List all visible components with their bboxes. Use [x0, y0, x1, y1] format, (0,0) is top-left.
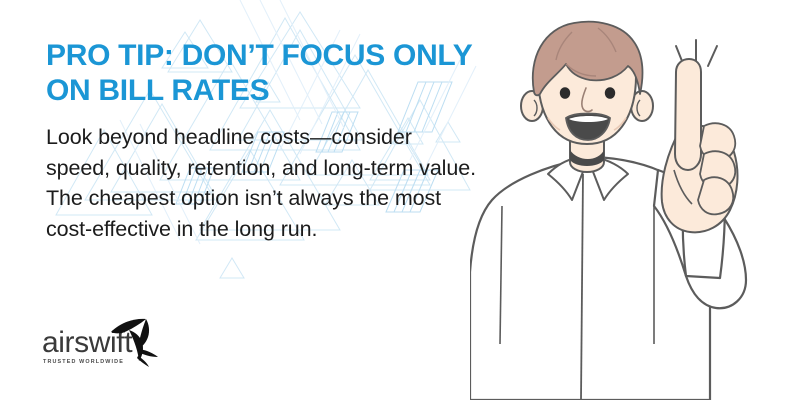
- page-title: PRO TIP: DON’T FOCUS ONLY ON BILL RATES: [46, 38, 476, 108]
- body-copy: Look beyond headline costs—consider spee…: [46, 122, 476, 244]
- pro-tip-card: PRO TIP: DON’T FOCUS ONLY ON BILL RATES …: [0, 0, 800, 400]
- swift-bird-mark: [105, 316, 169, 368]
- text-column: PRO TIP: DON’T FOCUS ONLY ON BILL RATES …: [46, 38, 476, 244]
- man-pointing-finger-up-illustration: [470, 14, 800, 400]
- airswift-logo[interactable]: airswift TRUSTED WORLDWIDE: [42, 316, 202, 374]
- pointing-hand: [662, 59, 738, 232]
